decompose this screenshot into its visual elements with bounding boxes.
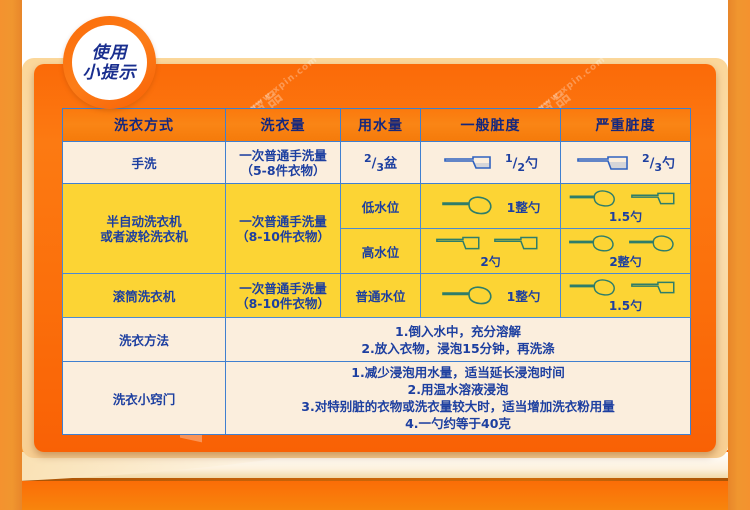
cell-method: 滚筒洗衣机 [63,274,226,318]
spoon-group: 1整勺 [424,194,557,218]
spoon-full-icon [628,233,684,255]
spoon-group: 1整勺 [424,284,557,308]
fraction-denominator: 3 [654,160,662,173]
spoon-label: 1整勺 [507,286,541,305]
cell-amount: 一次普通手洗量 （8-10件衣物） [226,274,341,318]
amount-line-1: 一次普通手洗量 [229,148,337,163]
spoon-icons [568,233,684,255]
water-fraction: 2/3盆 [364,152,397,174]
spoon-group: 2勺 [424,233,557,270]
cell-normal-dirt: 1整勺 [421,274,561,318]
amount-line-2: （5-8件衣物） [229,163,337,178]
cell-method: 半自动洗衣机 或者波轮洗衣机 [63,184,226,274]
background-left-stripe [0,0,22,510]
tip-badge-line-2: 小提示 [83,63,137,83]
spoon-flat-icon [435,233,489,255]
table-header-row: 洗衣方式 洗衣量 用水量 一般脏度 严重脏度 [63,109,691,142]
spoon-full-icon [568,188,626,210]
step-item: 2.放入衣物，浸泡15分钟，再洗涤 [229,340,687,357]
amount-line-2: （8-10件衣物） [229,296,337,311]
spoon-label: 1整勺 [507,197,541,216]
cell-normal-dirt: 1整勺 [421,184,561,229]
spoon-full-icon [441,194,503,218]
cell-heavy-dirt: 1.5勺 [561,274,691,318]
spoon-group: 2整勺 [564,233,687,270]
cell-section-title: 洗衣方法 [63,318,226,362]
method-line-2: 或者波轮洗衣机 [66,229,222,244]
spoon-half-icon [630,277,684,299]
step-item: 1.减少浸泡用水量，适当延长浸泡时间 [229,364,687,381]
spoon-group: 1.5勺 [564,188,687,225]
cell-water: 普通水位 [341,274,421,318]
tip-badge-line-1: 使用 [92,43,128,63]
step-item: 1.倒入水中，充分溶解 [229,323,687,340]
tip-badge-inner: 使用 小提示 [72,25,147,100]
method-line-1: 半自动洗衣机 [66,214,222,229]
spoon-full-icon [568,277,626,299]
spoon-group: 1/2勺 [424,152,557,174]
step-item: 4.一勺约等于40克 [229,415,687,432]
spoon-twothird-icon [576,152,638,174]
background-right-stripe [728,0,750,510]
fraction-numerator: 2 [364,152,372,165]
amount-line-1: 一次普通手洗量 [229,214,337,229]
spoon-group: 2/3勺 [564,152,687,174]
spoon-label: 1.5勺 [609,297,642,314]
cell-water: 2/3盆 [341,142,421,184]
cell-water: 高水位 [341,229,421,274]
spoon-label: 1.5勺 [609,208,642,225]
spoon-label: 1/2勺 [505,152,538,174]
cell-section-body: 1.倒入水中，充分溶解 2.放入衣物，浸泡15分钟，再洗涤 [226,318,691,362]
fraction-numerator: 2 [642,152,650,165]
col-header-water: 用水量 [341,109,421,142]
spoon-full-icon [568,233,624,255]
spoon-label: 2勺 [480,253,500,270]
spoon-half-icon [630,188,684,210]
spoon-half-icon [443,152,501,174]
spoon-flat-icon [493,233,547,255]
spoon-icons [568,277,684,299]
spoon-group: 1.5勺 [564,277,687,314]
spoon-full-icon [441,284,503,308]
amount-line-1: 一次普通手洗量 [229,281,337,296]
step-item: 3.对特别脏的衣物或洗衣量较大时，适当增加洗衣粉用量 [229,398,687,415]
table-row: 半自动洗衣机 或者波轮洗衣机 一次普通手洗量 （8-10件衣物） 低水位 1整勺 [63,184,691,229]
table-row-tips: 洗衣小窍门 1.减少浸泡用水量，适当延长浸泡时间 2.用温水溶液浸泡 3.对特别… [63,362,691,435]
col-header-amount: 洗衣量 [226,109,341,142]
table-row: 手洗 一次普通手洗量 （5-8件衣物） 2/3盆 1/2勺 [63,142,691,184]
cell-water: 低水位 [341,184,421,229]
spoon-label: 2/3勺 [642,152,675,174]
tip-badge: 使用 小提示 [63,16,156,109]
cell-heavy-dirt: 1.5勺 [561,184,691,229]
spoon-icons [435,233,547,255]
fraction-unit: 勺 [662,156,675,171]
cell-amount: 一次普通手洗量 （5-8件衣物） [226,142,341,184]
fraction-numerator: 1 [505,152,513,165]
step-item: 2.用温水溶液浸泡 [229,381,687,398]
col-header-normal: 一般脏度 [421,109,561,142]
amount-line-2: （8-10件衣物） [229,229,337,244]
col-header-method: 洗衣方式 [63,109,226,142]
cell-method: 手洗 [63,142,226,184]
fraction-unit: 盆 [384,156,397,171]
fraction-denominator: 2 [517,160,525,173]
table-row-method: 洗衣方法 1.倒入水中，充分溶解 2.放入衣物，浸泡15分钟，再洗涤 [63,318,691,362]
fraction-unit: 勺 [525,156,538,171]
col-header-heavy: 严重脏度 [561,109,691,142]
cell-section-body: 1.减少浸泡用水量，适当延长浸泡时间 2.用温水溶液浸泡 3.对特别脏的衣物或洗… [226,362,691,435]
usage-table: 洗衣方式 洗衣量 用水量 一般脏度 严重脏度 手洗 一次普通手洗量 （5-8件衣… [62,108,691,435]
cell-amount: 一次普通手洗量 （8-10件衣物） [226,184,341,274]
page-root: 爱万品 www.xpin.com 爱万品 www.xpin.com 爱万品 ww… [0,0,750,510]
spoon-label: 2整勺 [609,253,641,270]
cell-heavy-dirt: 2整勺 [561,229,691,274]
cell-normal-dirt: 2勺 [421,229,561,274]
table-row: 滚筒洗衣机 一次普通手洗量 （8-10件衣物） 普通水位 1整勺 [63,274,691,318]
cell-heavy-dirt: 2/3勺 [561,142,691,184]
spoon-icons [568,188,684,210]
cell-normal-dirt: 1/2勺 [421,142,561,184]
fraction-denominator: 3 [376,160,384,173]
cell-section-title: 洗衣小窍门 [63,362,226,435]
